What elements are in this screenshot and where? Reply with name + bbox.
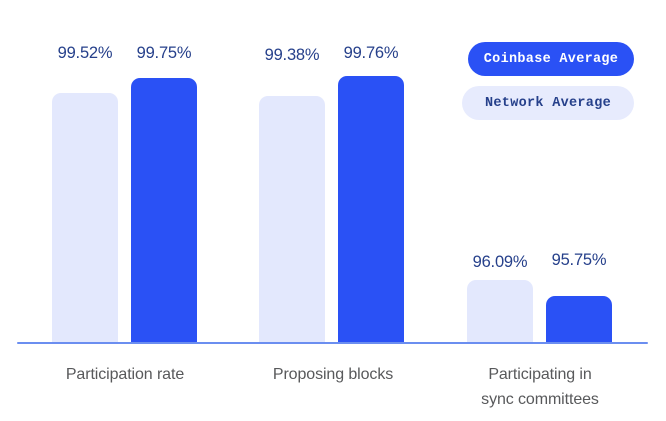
legend-item-coinbase-average[interactable]: Coinbase Average bbox=[468, 42, 634, 76]
x-axis-line bbox=[17, 342, 648, 344]
value-label-coinbase-proposing-blocks: 99.76% bbox=[328, 44, 414, 63]
category-label-proposing-blocks: Proposing blocks bbox=[218, 362, 448, 387]
chart-legend: Coinbase Average Network Average bbox=[462, 42, 634, 120]
bar-network-participation-rate[interactable] bbox=[52, 93, 118, 343]
value-label-network-proposing-blocks: 99.38% bbox=[249, 46, 335, 65]
legend-item-network-average[interactable]: Network Average bbox=[462, 86, 634, 120]
category-label-participation-rate: Participation rate bbox=[10, 362, 240, 387]
bar-coinbase-sync-committees[interactable] bbox=[546, 296, 612, 343]
legend-label-coinbase-average: Coinbase Average bbox=[484, 52, 618, 67]
bar-chart: 99.52% 99.75% 99.38% 99.76% 96.09% 95.75… bbox=[0, 0, 666, 421]
legend-label-network-average: Network Average bbox=[485, 96, 611, 111]
value-label-coinbase-participation-rate: 99.75% bbox=[121, 44, 207, 63]
bar-coinbase-proposing-blocks[interactable] bbox=[338, 76, 404, 343]
category-label-sync-committees: Participating in sync committees bbox=[425, 362, 655, 412]
bar-coinbase-participation-rate[interactable] bbox=[131, 78, 197, 343]
bar-network-proposing-blocks[interactable] bbox=[259, 96, 325, 343]
value-label-network-participation-rate: 99.52% bbox=[42, 44, 128, 63]
value-label-network-sync-committees: 96.09% bbox=[457, 253, 543, 272]
value-label-coinbase-sync-committees: 95.75% bbox=[536, 251, 622, 270]
bar-network-sync-committees[interactable] bbox=[467, 280, 533, 343]
